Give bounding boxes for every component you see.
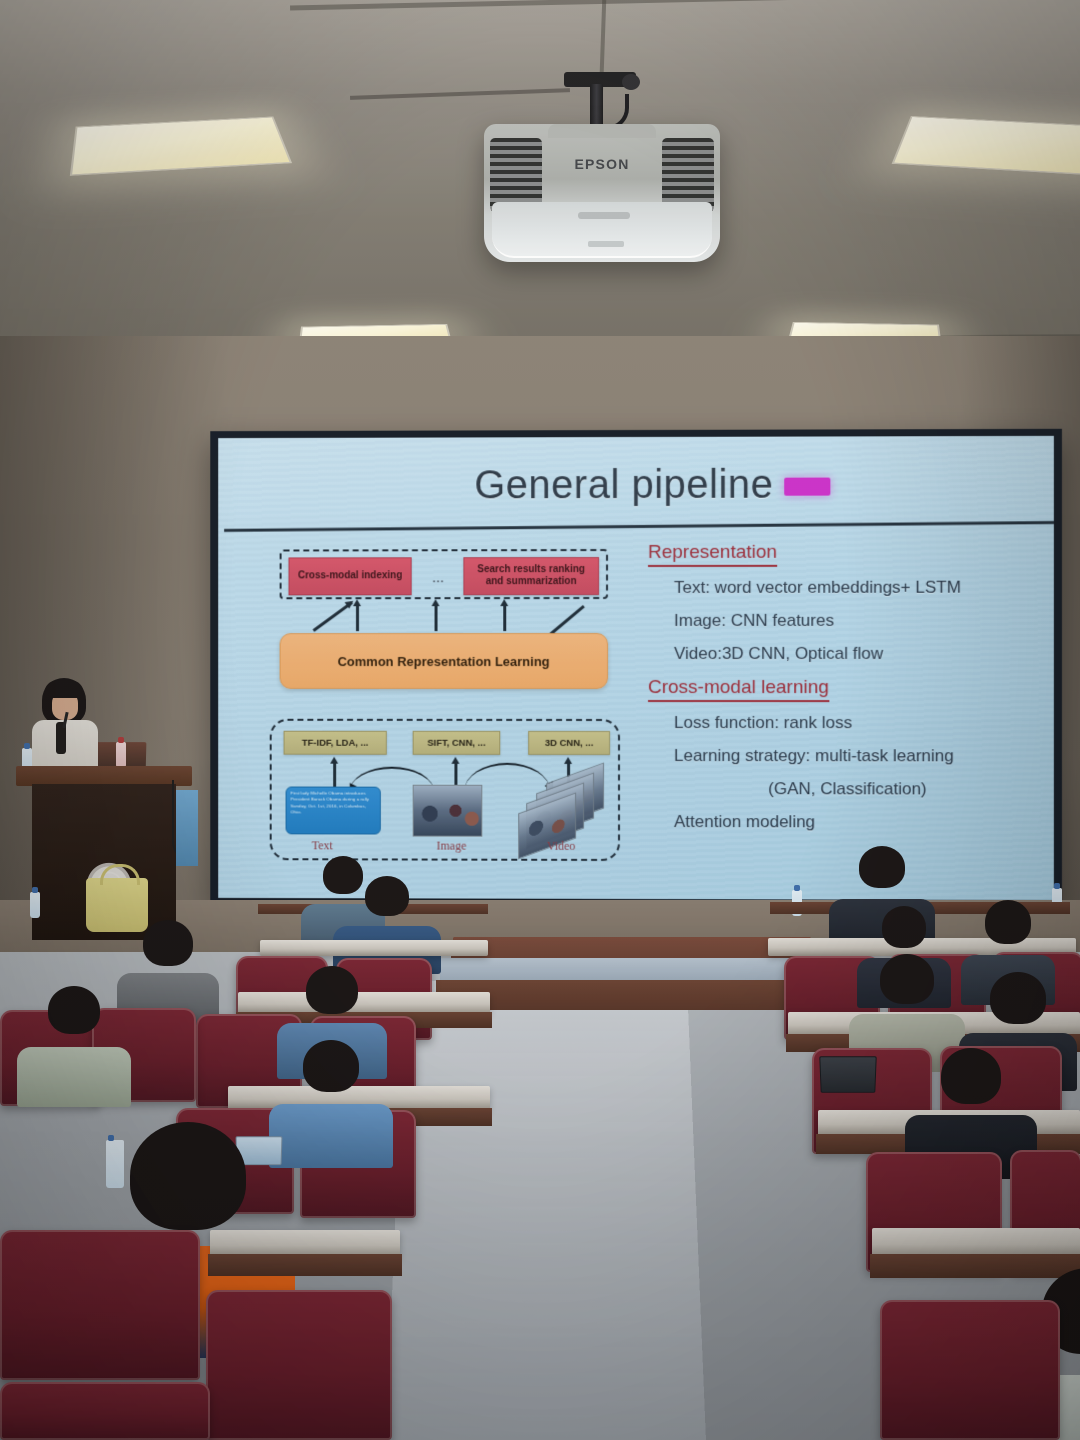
- modality-label-text: Text: [278, 838, 367, 853]
- slide-right-column: Representation Text: word vector embeddi…: [648, 540, 1054, 845]
- water-bottle: [116, 742, 126, 768]
- person-head: [941, 1048, 1001, 1104]
- presentation-slide: General pipeline Cross-modal indexing ..…: [218, 436, 1054, 900]
- ceiling-light-panel-1: [70, 116, 292, 175]
- image-modality-thumbnail: [413, 785, 483, 837]
- common-representation-learning-box: Common Representation Learning: [280, 633, 608, 689]
- representation-line-image: Image: CNN features: [674, 610, 1054, 632]
- title-divider: [224, 521, 1054, 532]
- title-accent-mark: [784, 478, 830, 496]
- desk: [260, 940, 488, 956]
- projector-lens-face: [492, 202, 712, 258]
- side-equipment-panel: [176, 790, 198, 866]
- person-head: [880, 954, 934, 1004]
- arrow-up-right: [503, 605, 505, 631]
- projector-body: EPSON: [484, 124, 720, 262]
- task-box-cross-modal-indexing: Cross-modal indexing: [289, 557, 412, 595]
- video-modality-thumbnail: [518, 773, 610, 845]
- cross-modal-line-gan: (GAN, Classification): [768, 778, 1054, 801]
- presenter-hair-front: [44, 680, 84, 698]
- auditorium-seat: [880, 1300, 1060, 1440]
- cross-modal-line-strategy: Learning strategy: multi-task learning: [674, 745, 1054, 768]
- person-head: [985, 900, 1031, 944]
- person-head: [365, 876, 409, 916]
- person-head: [143, 920, 193, 966]
- stage-step-lower: [436, 980, 832, 1010]
- lecture-hall-scene: EPSON General pipeline Cross-modal index…: [0, 0, 1080, 1440]
- slide-title: General pipeline: [474, 463, 773, 509]
- person-head: [130, 1122, 246, 1230]
- modality-label-image: Image: [407, 839, 497, 854]
- projector-lens-slot: [578, 212, 630, 219]
- presenter-at-podium: [26, 678, 110, 774]
- person-head: [859, 846, 905, 888]
- representation-line-video: Video:3D CNN, Optical flow: [674, 643, 1054, 665]
- person-torso: [17, 1047, 131, 1107]
- projector-top-ridge: [548, 124, 656, 138]
- projector-brand-logo: EPSON: [484, 156, 720, 172]
- auditorium-seat: [0, 1230, 200, 1380]
- projector-vent-left: [490, 138, 542, 212]
- text-modality-thumbnail: First lady Michelle Obama introduces Pre…: [286, 787, 381, 835]
- ceiling-seam: [290, 0, 810, 10]
- lectern-top: [16, 766, 192, 786]
- projection-screen: General pipeline Cross-modal indexing ..…: [210, 429, 1062, 909]
- person-head: [882, 906, 926, 948]
- audience-person: [904, 1048, 1038, 1156]
- feature-box-image: SIFT, CNN, ...: [413, 731, 501, 755]
- person-head: [303, 1040, 359, 1092]
- cross-modal-line-loss: Loss function: rank loss: [674, 712, 1054, 734]
- representation-line-text: Text: word vector embeddings+ LSTM: [674, 576, 1054, 599]
- ceiling-light-panel-2: [892, 116, 1080, 177]
- auditorium-seat: [0, 1382, 210, 1440]
- projector-vent-right: [662, 138, 714, 212]
- projector-mount-knob: [622, 74, 640, 90]
- task-group-container: Cross-modal indexing ... Search results …: [280, 549, 608, 599]
- ceiling-projector: EPSON: [466, 72, 738, 272]
- task-box-search-ranking: Search results ranking and summarization: [463, 557, 599, 595]
- arrow-up-middle: [435, 605, 437, 631]
- cross-modal-line-attention: Attention modeling: [674, 811, 1054, 834]
- person-head: [990, 972, 1046, 1024]
- feature-box-text: TF-IDF, LDA, ...: [284, 731, 387, 755]
- heading-cross-modal-learning: Cross-modal learning: [648, 676, 829, 702]
- heading-representation: Representation: [648, 541, 777, 567]
- water-bottle: [30, 892, 40, 918]
- text-sample-caption: First lady Michelle Obama introduces Pre…: [291, 791, 376, 817]
- center-aisle: [386, 981, 707, 1440]
- arrow-diagonal-left: [313, 601, 353, 631]
- task-ellipsis: ...: [433, 573, 445, 585]
- desk-edge: [208, 1254, 402, 1276]
- modality-label-video: Video: [516, 839, 606, 854]
- audience-person: [16, 986, 132, 1084]
- arrow-up-left: [356, 605, 358, 631]
- projector-ir-receiver: [588, 241, 624, 247]
- person-head: [48, 986, 100, 1034]
- person-head: [306, 966, 358, 1014]
- audience-person: [848, 954, 966, 1050]
- audience-laptop: [819, 1056, 877, 1093]
- auditorium-seat: [206, 1290, 392, 1440]
- feature-box-video: 3D CNN, ...: [528, 731, 610, 755]
